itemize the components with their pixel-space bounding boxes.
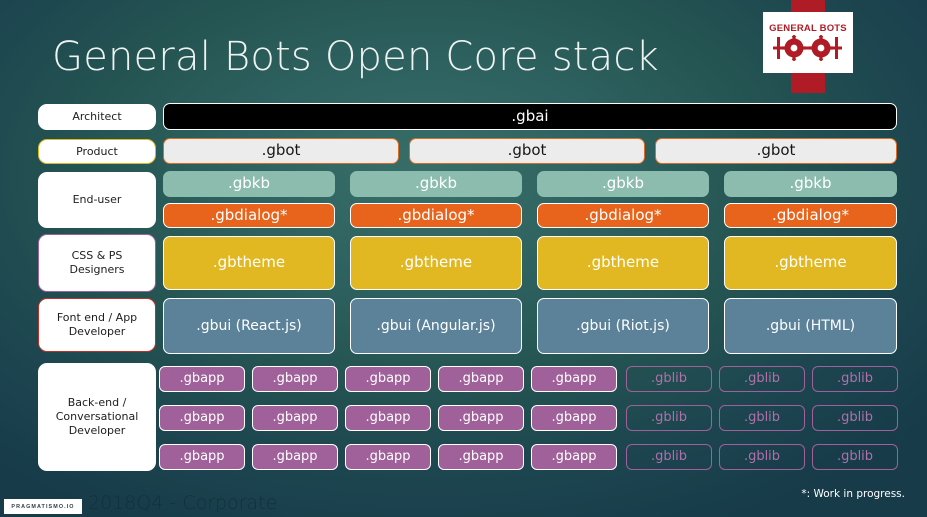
general-bots-logo: GENERAL BOTS — [763, 12, 853, 73]
layer-label: .gblib — [651, 450, 687, 465]
layer-gbapp: .gbapp — [531, 444, 617, 470]
layer-gblib: .gblib — [812, 405, 898, 431]
layer-label: .gbot — [262, 142, 301, 159]
layer-gbapp: .gbapp — [531, 405, 617, 431]
layer-gblib: .gblib — [626, 405, 712, 431]
layer-gblib: .gblib — [719, 366, 805, 392]
layer-label: .gbot — [508, 142, 547, 159]
role-label: Font end / App Developer — [43, 311, 151, 339]
layer-gbapp: .gbapp — [438, 444, 524, 470]
layer-label: .gbapp — [179, 450, 224, 465]
layer-label: .gbtheme — [774, 254, 846, 271]
layer-label: .gblib — [744, 411, 780, 426]
layer-gbapp: .gbapp — [159, 366, 245, 392]
layer-gbdialog-1: .gbdialog* — [163, 203, 335, 228]
layer-label: .gblib — [744, 372, 780, 387]
layer-gbapp: .gbapp — [252, 444, 338, 470]
layer-label: .gbapp — [551, 372, 596, 387]
layer-label: .gblib — [651, 411, 687, 426]
layer-gbui-html: .gbui (HTML) — [724, 298, 897, 354]
layer-gbapp: .gbapp — [438, 366, 524, 392]
layer-label: .gbapp — [458, 372, 503, 387]
role-back-end-conversational-developer: Back-end / Conversational Developer — [38, 363, 156, 471]
layer-gbapp: .gbapp — [345, 405, 431, 431]
layer-label: .gbdialog* — [584, 207, 661, 224]
layer-label: .gblib — [651, 372, 687, 387]
layer-label: .gbapp — [458, 450, 503, 465]
layer-gbai: .gbai — [163, 103, 897, 130]
layer-gbtheme-2: .gbtheme — [350, 236, 522, 290]
footnote-work-in-progress: *: Work in progress. — [801, 488, 905, 500]
layer-gbapp: .gbapp — [252, 366, 338, 392]
layer-gblib: .gblib — [812, 366, 898, 392]
layer-gbapp: .gbapp — [531, 366, 617, 392]
layer-gbapp: .gbapp — [438, 405, 524, 431]
layer-label: .gbapp — [365, 450, 410, 465]
layer-gbapp: .gbapp — [159, 444, 245, 470]
two-gears-icon — [773, 35, 843, 61]
layer-gbtheme-4: .gbtheme — [724, 236, 897, 290]
layer-gbdialog-4: .gbdialog* — [724, 203, 897, 228]
layer-gbot-2: .gbot — [409, 138, 645, 164]
role-label: End-user — [73, 193, 122, 207]
layer-gbdialog-3: .gbdialog* — [537, 203, 709, 228]
layer-label: .gbkb — [415, 175, 457, 192]
role-label: CSS & PS Designers — [43, 249, 151, 277]
layer-gbtheme-3: .gbtheme — [537, 236, 709, 290]
layer-label: .gblib — [744, 450, 780, 465]
layer-label: .gbapp — [551, 411, 596, 426]
layer-gblib: .gblib — [719, 444, 805, 470]
layer-label: .gbui (Riot.js) — [576, 318, 670, 334]
layer-label: .gbot — [757, 142, 796, 159]
layer-label: .gbapp — [272, 411, 317, 426]
role-architect: Architect — [38, 104, 156, 130]
layer-label: .gbdialog* — [397, 207, 474, 224]
layer-label: .gbui (Angular.js) — [376, 318, 495, 334]
layer-gbui-angular: .gbui (Angular.js) — [350, 298, 522, 354]
layer-label: .gbtheme — [587, 254, 659, 271]
layer-label: .gbapp — [365, 411, 410, 426]
role-end-user: End-user — [38, 172, 156, 228]
layer-gbui-riot: .gbui (Riot.js) — [537, 298, 709, 354]
layer-gbtheme-1: .gbtheme — [163, 236, 335, 290]
layer-gbot-3: .gbot — [655, 138, 897, 164]
layer-gblib: .gblib — [719, 405, 805, 431]
layer-gbkb-3: .gbkb — [537, 171, 709, 197]
layer-gbui-react: .gbui (React.js) — [163, 298, 335, 354]
layer-label: .gbui (React.js) — [196, 318, 301, 334]
layer-gblib: .gblib — [812, 444, 898, 470]
role-label: Product — [76, 145, 118, 159]
layer-label: .gbapp — [551, 450, 596, 465]
layer-label: .gblib — [837, 450, 873, 465]
layer-label: .gbkb — [228, 175, 270, 192]
layer-label: .gbapp — [365, 372, 410, 387]
layer-label: .gbapp — [458, 411, 503, 426]
layer-gbkb-2: .gbkb — [350, 171, 522, 197]
layer-label: .gbtheme — [400, 254, 472, 271]
layer-gbapp: .gbapp — [252, 405, 338, 431]
layer-label: .gbkb — [789, 175, 831, 192]
layer-gbdialog-2: .gbdialog* — [350, 203, 522, 228]
pragmatismo-logo-text: PRAGMATISMO.IO — [11, 504, 74, 510]
layer-label: .gbapp — [272, 450, 317, 465]
footer-caption: 2018Q4 - Corporate — [88, 492, 277, 514]
pragmatismo-logo: PRAGMATISMO.IO — [4, 499, 82, 514]
layer-label: .gbapp — [179, 372, 224, 387]
layer-label: .gbkb — [602, 175, 644, 192]
logo-brand-text: GENERAL BOTS — [769, 24, 847, 34]
layer-label: .gbapp — [179, 411, 224, 426]
role-product: Product — [38, 139, 156, 164]
role-label: Back-end / Conversational Developer — [43, 396, 151, 437]
layer-label: .gblib — [837, 411, 873, 426]
slide-canvas: GENERAL BOTS — [0, 0, 927, 517]
slide-title: General Bots Open Core stack — [52, 34, 659, 80]
role-label: Architect — [72, 110, 121, 124]
layer-label: .gbapp — [272, 372, 317, 387]
layer-label: .gbdialog* — [772, 207, 849, 224]
layer-label: .gbai — [511, 108, 548, 125]
layer-gbkb-1: .gbkb — [163, 171, 335, 197]
layer-label: .gbui (HTML) — [766, 318, 855, 334]
layer-gbapp: .gbapp — [345, 366, 431, 392]
role-front-end-app-developer: Font end / App Developer — [38, 298, 156, 352]
layer-label: .gblib — [837, 372, 873, 387]
layer-gbot-1: .gbot — [163, 138, 399, 164]
layer-gbapp: .gbapp — [345, 444, 431, 470]
layer-gbkb-4: .gbkb — [724, 171, 897, 197]
role-css-ps-designers: CSS & PS Designers — [38, 234, 156, 292]
layer-gblib: .gblib — [626, 366, 712, 392]
layer-gbapp: .gbapp — [159, 405, 245, 431]
layer-label: .gbtheme — [213, 254, 285, 271]
layer-gblib: .gblib — [626, 444, 712, 470]
layer-label: .gbdialog* — [210, 207, 287, 224]
